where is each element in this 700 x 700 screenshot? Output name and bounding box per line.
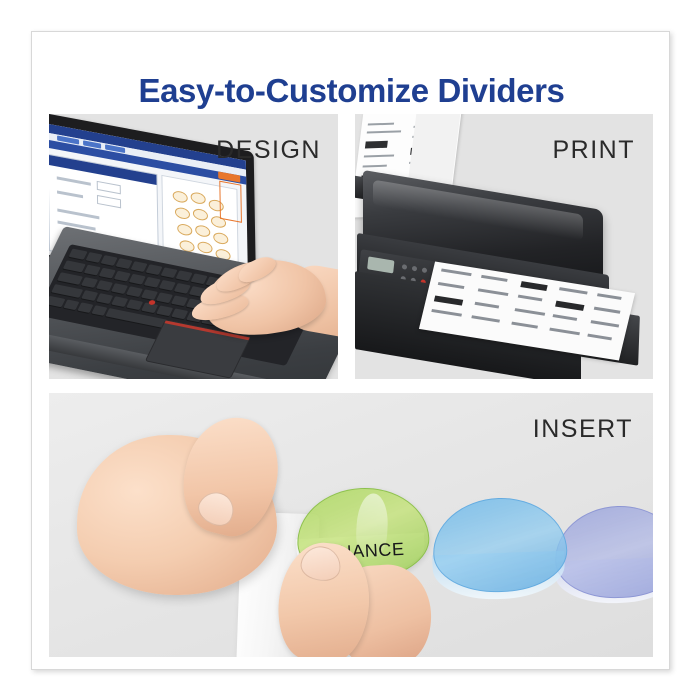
product-image-card: Easy-to-Customize Dividers [31, 31, 670, 670]
preview-oval-tab [191, 191, 206, 205]
page-title: Easy-to-Customize Dividers [32, 72, 671, 110]
thumbnail [193, 486, 240, 532]
printer-button[interactable] [412, 266, 418, 272]
screenshot-stage: Easy-to-Customize Dividers [0, 0, 700, 700]
panel-print-label: PRINT [553, 136, 636, 165]
hand-inserting-label [279, 543, 499, 657]
panel-print: PRINT [355, 114, 653, 379]
preview-oval-tab [177, 223, 192, 237]
preview-oval-tab [193, 208, 208, 222]
panel-design: DESIGN [49, 114, 338, 379]
panel-insert-label: INSERT [533, 415, 633, 444]
laptop-illustration [49, 132, 338, 379]
lid-highlight [373, 180, 583, 241]
design-sidebar [216, 171, 245, 240]
panel-design-label: DESIGN [216, 136, 321, 165]
hand-on-keyboard [185, 252, 338, 379]
preview-oval-tab [175, 206, 190, 220]
sidebar-template-frame [219, 181, 242, 223]
fingernail [298, 543, 343, 583]
dialog-field-input[interactable] [97, 195, 121, 208]
dialog-field-label [57, 176, 91, 185]
preview-oval-tab [195, 224, 210, 238]
printer-button[interactable] [402, 264, 408, 270]
panel-insert: FINANCE INSERT [49, 393, 653, 657]
index-finger [273, 539, 375, 657]
dialog-field-label [57, 190, 83, 198]
preview-oval-tab [173, 190, 188, 204]
printer-lcd-display [367, 256, 394, 273]
dialog-field-input[interactable] [97, 181, 121, 194]
printer-button[interactable] [422, 267, 428, 273]
dialog-field-label [57, 209, 99, 220]
